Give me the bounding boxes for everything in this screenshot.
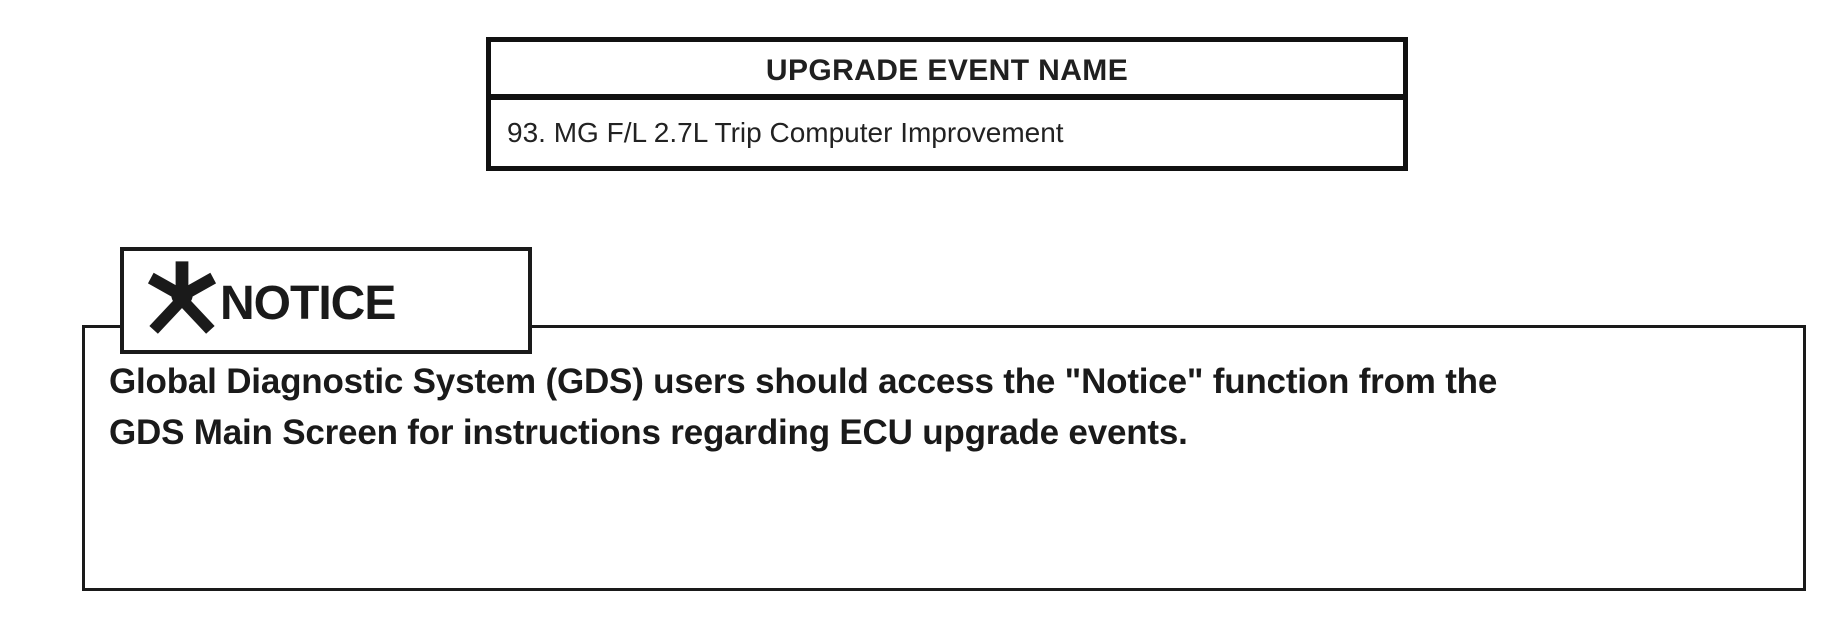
upgrade-event-table: UPGRADE EVENT NAME 93. MG F/L 2.7L Trip …: [486, 37, 1408, 171]
upgrade-event-table-header: UPGRADE EVENT NAME: [491, 42, 1403, 100]
notice-tab-label: NOTICE: [220, 280, 395, 328]
notice-body-text: Global Diagnostic System (GDS) users sho…: [109, 356, 1529, 459]
table-row: 93. MG F/L 2.7L Trip Computer Improvemen…: [491, 100, 1403, 166]
notice-body-box: Global Diagnostic System (GDS) users sho…: [82, 325, 1806, 591]
asterisk-icon: [146, 260, 218, 338]
notice-tab: NOTICE: [120, 247, 532, 354]
notice-callout: Global Diagnostic System (GDS) users sho…: [82, 247, 1806, 592]
